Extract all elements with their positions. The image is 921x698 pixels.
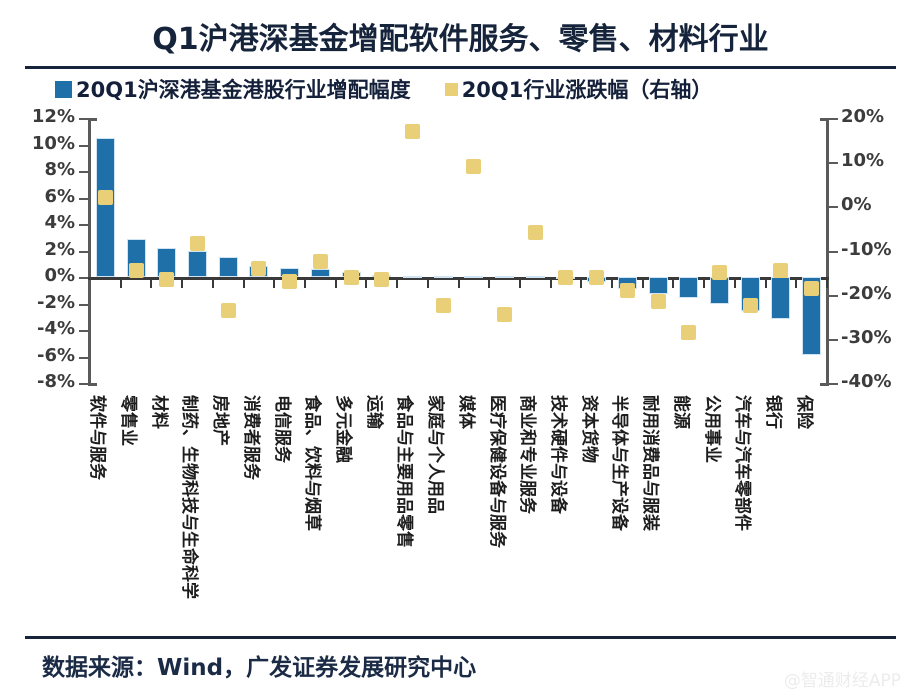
scatter-marker <box>98 190 113 205</box>
category-tick <box>672 280 674 288</box>
category-label: 电信服务 <box>272 395 297 463</box>
legend-square-marker-icon <box>445 83 458 96</box>
axis-cap <box>820 118 829 121</box>
scatter-marker <box>190 236 205 251</box>
page-title: Q1沪港深基金增配软件服务、零售、材料行业 <box>0 14 921 58</box>
y-tick-label-left: 2% <box>44 239 75 260</box>
y-tick-label-left: -4% <box>37 318 75 339</box>
source-note: 数据来源：Wind，广发证券发展研究中心 <box>42 648 476 682</box>
category-tick <box>765 280 767 288</box>
category-tick <box>519 280 521 288</box>
scatter-marker <box>773 263 788 278</box>
y-tick-left <box>79 304 88 306</box>
bar <box>219 257 238 277</box>
y-tick-label-left: 10% <box>32 133 75 154</box>
category-tick <box>120 280 122 288</box>
y-tick-label-left: 6% <box>44 186 75 207</box>
category-label: 技术硬件与设备 <box>548 395 573 514</box>
y-tick-right <box>829 162 838 164</box>
category-label: 媒体 <box>456 395 481 429</box>
category-tick <box>365 280 367 288</box>
category-tick <box>550 280 552 288</box>
category-label: 家庭与个人用品 <box>425 395 450 514</box>
category-label: 医疗保健设备与服务 <box>487 395 512 548</box>
scatter-marker <box>374 272 389 287</box>
category-tick <box>427 280 429 288</box>
category-tick <box>488 280 490 288</box>
axis-cap <box>88 383 97 386</box>
legend-item-marker: 20Q1行业涨跌幅（右轴） <box>445 74 713 104</box>
watermark-label: @智通财经APP <box>784 666 901 691</box>
y-tick-label-right: 10% <box>841 150 884 171</box>
category-tick <box>611 280 613 288</box>
category-label: 制药、生物科技与生命科学 <box>179 395 204 599</box>
category-label: 商业和专业服务 <box>517 395 542 514</box>
scatter-marker <box>221 303 236 318</box>
category-tick <box>243 280 245 288</box>
category-tick <box>304 280 306 288</box>
scatter-marker <box>251 261 266 276</box>
category-tick <box>396 280 398 288</box>
category-label: 半导体与生产设备 <box>609 395 634 531</box>
bar <box>403 276 422 278</box>
scatter-marker <box>497 307 512 322</box>
scatter-marker <box>405 124 420 139</box>
y-tick-label-right: -40% <box>841 371 892 392</box>
category-tick <box>335 280 337 288</box>
y-tick-left <box>79 198 88 200</box>
category-label: 运输 <box>364 395 389 429</box>
scatter-marker <box>558 270 573 285</box>
y-tick-label-left: 0% <box>44 265 75 286</box>
footer-divider <box>25 636 896 639</box>
y-tick-left <box>79 357 88 359</box>
category-label: 食品、饮料与烟草 <box>302 395 327 531</box>
y-tick-left <box>79 383 88 385</box>
bar <box>710 277 729 304</box>
chart-plot-area: 12%10%8%6%4%2%0%-2%-4%-6%-8% 20%10%0%-10… <box>0 105 921 405</box>
bar <box>464 276 483 278</box>
category-tick <box>703 280 705 288</box>
category-label: 耐用消费品与服装 <box>640 395 665 531</box>
chart-legend: 20Q1沪深港基金港股行业增配幅度 20Q1行业涨跌幅（右轴） <box>55 76 900 102</box>
scatter-marker <box>681 325 696 340</box>
scatter-marker <box>804 281 819 296</box>
scatter-marker <box>743 298 758 313</box>
y-tick-right <box>829 295 838 297</box>
y-tick-label-right: -10% <box>841 239 892 260</box>
bar <box>311 269 330 277</box>
bar <box>495 276 514 278</box>
title-divider <box>25 66 896 69</box>
category-tick <box>458 280 460 288</box>
y-tick-label-right: -20% <box>841 283 892 304</box>
category-tick <box>795 280 797 288</box>
y-tick-right <box>829 118 838 120</box>
legend-label-bar: 20Q1沪深港基金港股行业增配幅度 <box>76 74 411 104</box>
category-tick <box>642 280 644 288</box>
y-tick-label-left: -6% <box>37 345 75 366</box>
category-label: 能源 <box>671 395 696 429</box>
category-tick <box>181 280 183 288</box>
bar <box>649 277 668 294</box>
category-label: 食品与主要用品零售 <box>394 395 419 548</box>
scatter-marker <box>466 159 481 174</box>
legend-label-marker: 20Q1行业涨跌幅（右轴） <box>462 74 713 104</box>
scatter-marker <box>282 274 297 289</box>
y-tick-label-left: 4% <box>44 212 75 233</box>
legend-item-bar: 20Q1沪深港基金港股行业增配幅度 <box>55 74 411 104</box>
y-tick-left <box>79 145 88 147</box>
bar <box>96 138 115 277</box>
category-label: 汽车与汽车零部件 <box>732 395 757 531</box>
bar <box>679 277 698 298</box>
left-axis-line <box>88 118 91 383</box>
scatter-marker <box>712 265 727 280</box>
category-label: 消费者服务 <box>241 395 266 480</box>
y-tick-left <box>79 118 88 120</box>
y-tick-left <box>79 224 88 226</box>
category-label: 公用事业 <box>702 395 727 463</box>
y-tick-right <box>829 206 838 208</box>
bar <box>771 277 790 319</box>
category-tick <box>273 280 275 288</box>
category-label: 多元金融 <box>333 395 358 463</box>
scatter-marker <box>651 294 666 309</box>
y-tick-right <box>829 251 838 253</box>
axis-cap <box>820 383 829 386</box>
category-label: 保险 <box>794 395 819 429</box>
category-label: 银行 <box>763 395 788 429</box>
category-label: 零售业 <box>118 395 143 446</box>
y-tick-label-right: -30% <box>841 327 892 348</box>
scatter-marker <box>159 272 174 287</box>
category-label: 房地产 <box>210 395 235 446</box>
scatter-marker <box>589 270 604 285</box>
category-axis-labels: 软件与服务零售业材料制药、生物科技与生命科学房地产消费者服务电信服务食品、饮料与… <box>0 395 921 630</box>
category-tick <box>212 280 214 288</box>
category-label: 软件与服务 <box>87 395 112 480</box>
bar <box>434 276 453 278</box>
scatter-marker <box>129 263 144 278</box>
y-tick-label-left: -2% <box>37 292 75 313</box>
category-tick <box>150 280 152 288</box>
category-tick <box>580 280 582 288</box>
y-tick-left <box>79 330 88 332</box>
y-tick-label-right: 0% <box>841 194 872 215</box>
category-tick <box>734 280 736 288</box>
category-label: 资本货物 <box>579 395 604 463</box>
category-tick <box>826 280 828 288</box>
slide-root: Q1沪港深基金增配软件服务、零售、材料行业 20Q1沪深港基金港股行业增配幅度 … <box>0 0 921 698</box>
scatter-marker <box>344 270 359 285</box>
category-label: 材料 <box>149 395 174 429</box>
y-tick-label-left: 12% <box>32 106 75 127</box>
legend-bar-swatch-icon <box>55 81 72 98</box>
y-tick-left <box>79 277 88 279</box>
scatter-marker <box>620 283 635 298</box>
y-tick-right <box>829 383 838 385</box>
y-tick-label-right: 20% <box>841 106 884 127</box>
y-tick-label-left: 8% <box>44 159 75 180</box>
scatter-marker <box>313 254 328 269</box>
y-tick-label-left: -8% <box>37 371 75 392</box>
bar <box>188 251 207 278</box>
axis-cap <box>88 118 97 121</box>
scatter-marker <box>528 225 543 240</box>
y-tick-right <box>829 339 838 341</box>
y-tick-left <box>79 251 88 253</box>
bar <box>526 276 545 278</box>
scatter-marker <box>436 298 451 313</box>
y-tick-left <box>79 171 88 173</box>
